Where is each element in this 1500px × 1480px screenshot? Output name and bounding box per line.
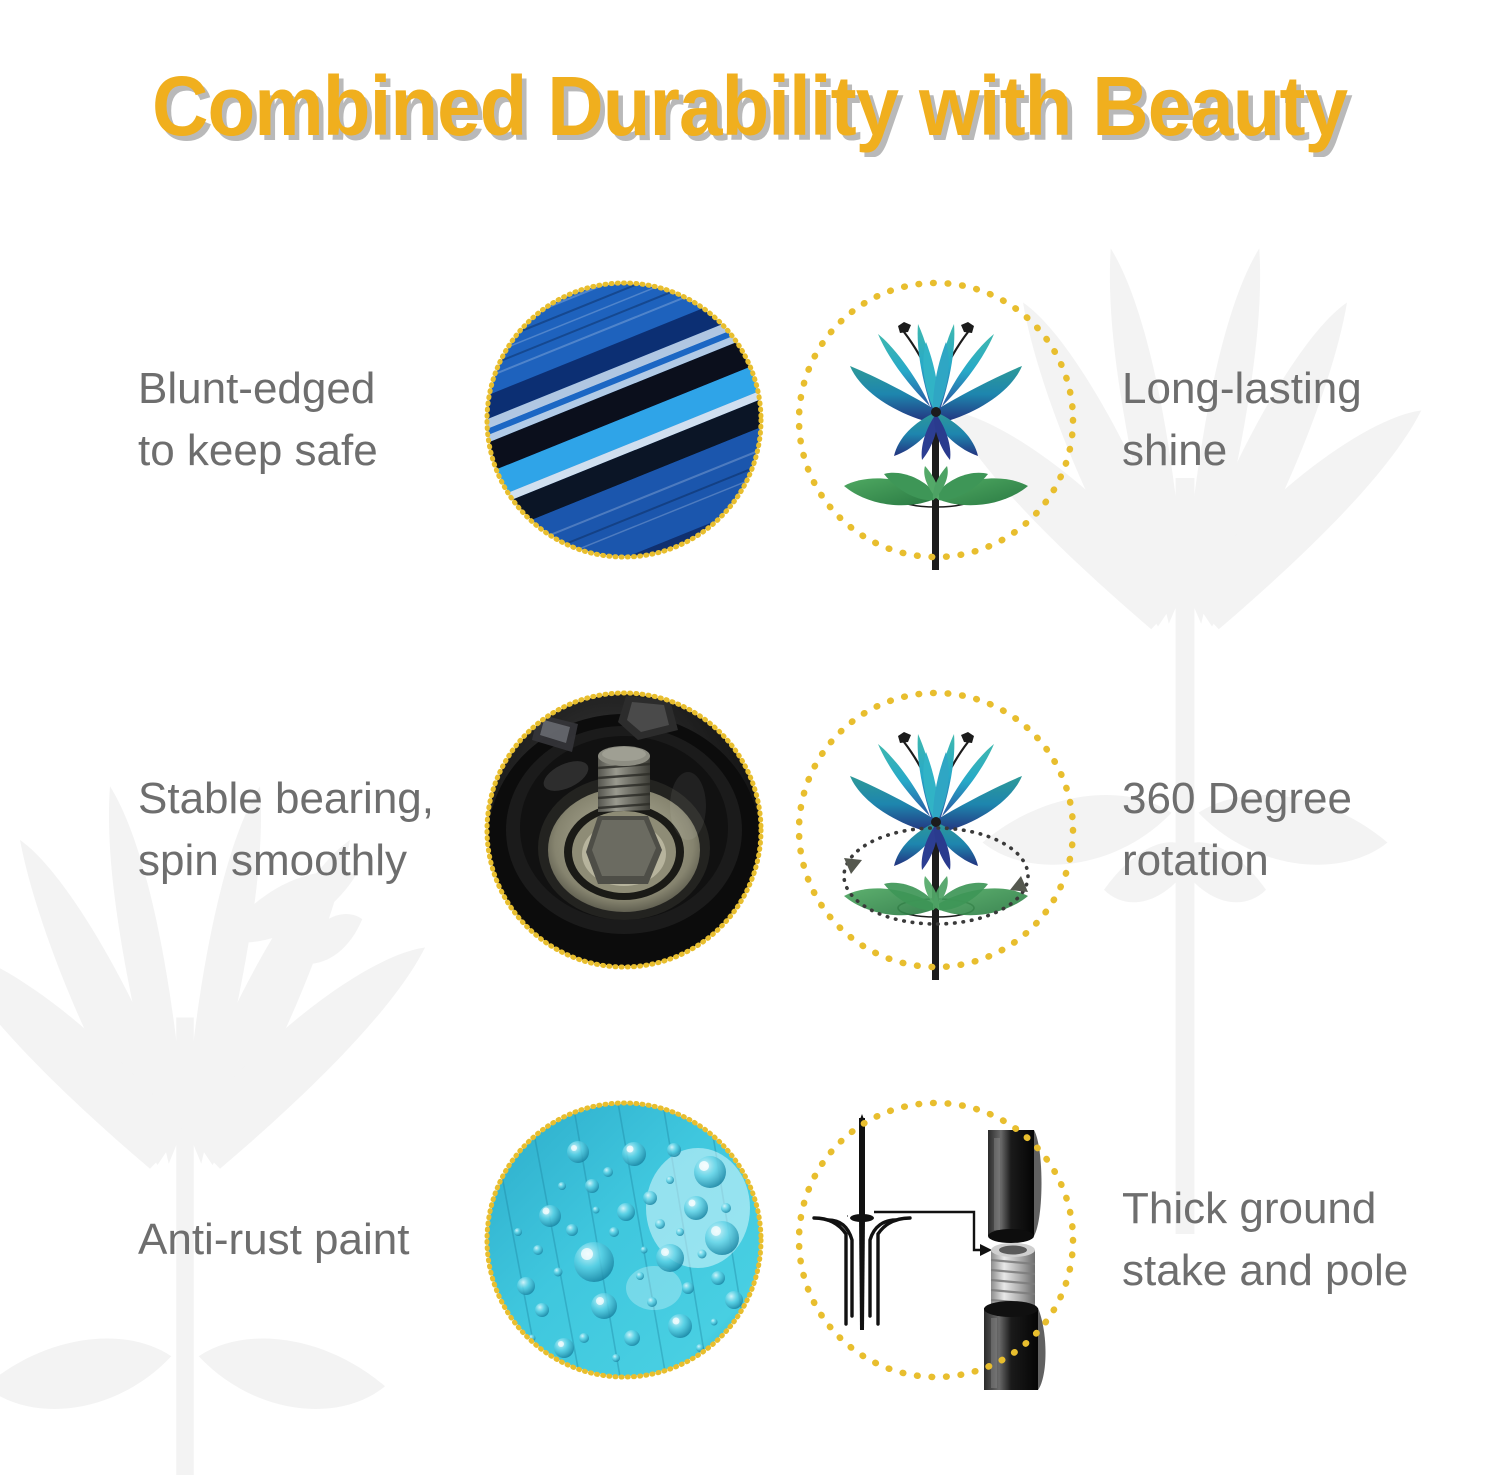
blade-edge-closeup-photo bbox=[474, 270, 774, 570]
feature-label-line-2: stake and pole bbox=[1122, 1240, 1452, 1302]
ball-bearing-hub-photo bbox=[474, 680, 774, 980]
feature-label-360-degree-rotation: 360 Degree rotation bbox=[1092, 768, 1452, 893]
wind-spinner-sculpture bbox=[786, 270, 1086, 570]
ground-stake-icon bbox=[847, 1216, 848, 1218]
feature-label-stable-bearing: Stable bearing, spin smoothly bbox=[118, 768, 468, 893]
page-header: Combined Durability with Beauty bbox=[0, 58, 1500, 155]
feature-label-line-1: 360 Degree bbox=[1122, 768, 1452, 830]
feature-label-line-2: spin smoothly bbox=[138, 830, 468, 892]
feature-row-anti-rust-paint: Anti-rust paint bbox=[0, 1075, 1500, 1405]
feature-row-blunt-edged: Blunt-edged to keep safe bbox=[0, 255, 1500, 585]
feature-label-anti-rust-paint: Anti-rust paint bbox=[118, 1209, 468, 1271]
water-droplets-on-paint-photo bbox=[474, 1090, 774, 1390]
feature-row-stable-bearing: Stable bearing, spin smoothly bbox=[0, 665, 1500, 995]
feature-label-line-1: Blunt-edged bbox=[138, 358, 468, 420]
feature-label-blunt-edged: Blunt-edged to keep safe bbox=[118, 358, 468, 483]
pole-segment-bottom bbox=[984, 1301, 1046, 1390]
feature-label-line-1: Long-lasting bbox=[1122, 358, 1452, 420]
wind-spinner-rotation-diagram bbox=[786, 680, 1086, 980]
feature-label-line-1: Anti-rust paint bbox=[138, 1209, 468, 1271]
pole-segment-top bbox=[988, 1130, 1042, 1243]
page-title: Combined Durability with Beauty bbox=[152, 58, 1347, 155]
feature-label-line-2: rotation bbox=[1122, 830, 1452, 892]
feature-label-line-1: Thick ground bbox=[1122, 1178, 1452, 1240]
feature-label-line-2: to keep safe bbox=[138, 420, 468, 482]
feature-label-long-lasting-shine: Long-lasting shine bbox=[1092, 358, 1452, 483]
callout-connector bbox=[874, 1212, 982, 1250]
ground-stake-and-pole-diagram bbox=[786, 1090, 1086, 1390]
feature-label-line-1: Stable bearing, bbox=[138, 768, 468, 830]
feature-label-line-2: shine bbox=[1122, 420, 1452, 482]
feature-label-thick-ground-stake: Thick ground stake and pole bbox=[1092, 1178, 1452, 1303]
